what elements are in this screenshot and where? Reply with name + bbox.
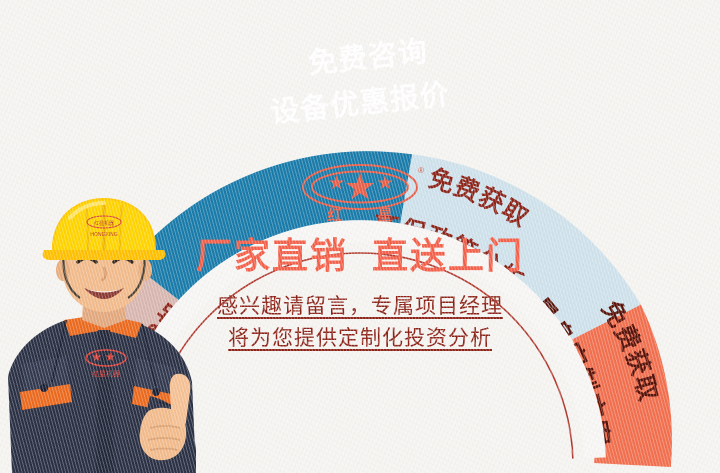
registered-trademark-icon: ® xyxy=(418,166,424,175)
subline-primary: 感兴趣请留言，专属项目经理 xyxy=(168,292,552,322)
svg-text:红星机器: 红星机器 xyxy=(94,220,114,227)
hongxing-logo-mark: 红 星 xyxy=(290,160,430,230)
promo-banner: 免费预约 到厂带料试机 免费咨询 设备优惠报价 免费获取 环保政策分析 xyxy=(0,0,720,473)
subline-secondary: 将为您提供定制化投资分析 xyxy=(168,324,552,354)
svg-text:HONGXING: HONGXING xyxy=(90,232,117,238)
svg-text:红星机器: 红星机器 xyxy=(92,369,120,378)
segment-free-consultation-line1: 免费咨询 xyxy=(307,35,430,80)
logo-brand-char-right: 星 xyxy=(377,207,392,224)
segment-free-consultation-line2: 设备优惠报价 xyxy=(269,78,451,130)
logo-brand-char-left: 红 xyxy=(327,206,342,224)
headline-text: 厂家直销 直送上门 xyxy=(168,236,552,276)
brand-logo: 红 星 ® xyxy=(290,160,430,230)
logo-stars xyxy=(329,173,393,200)
worker-photo: 红星机器 xyxy=(0,196,208,473)
center-content: 红 星 ® 厂家直销 直送上门 感兴趣请留言，专属项目经理 将为您提供定制化投资… xyxy=(168,160,552,354)
worker-hard-hat: 红星机器 HONGXING xyxy=(43,198,166,260)
